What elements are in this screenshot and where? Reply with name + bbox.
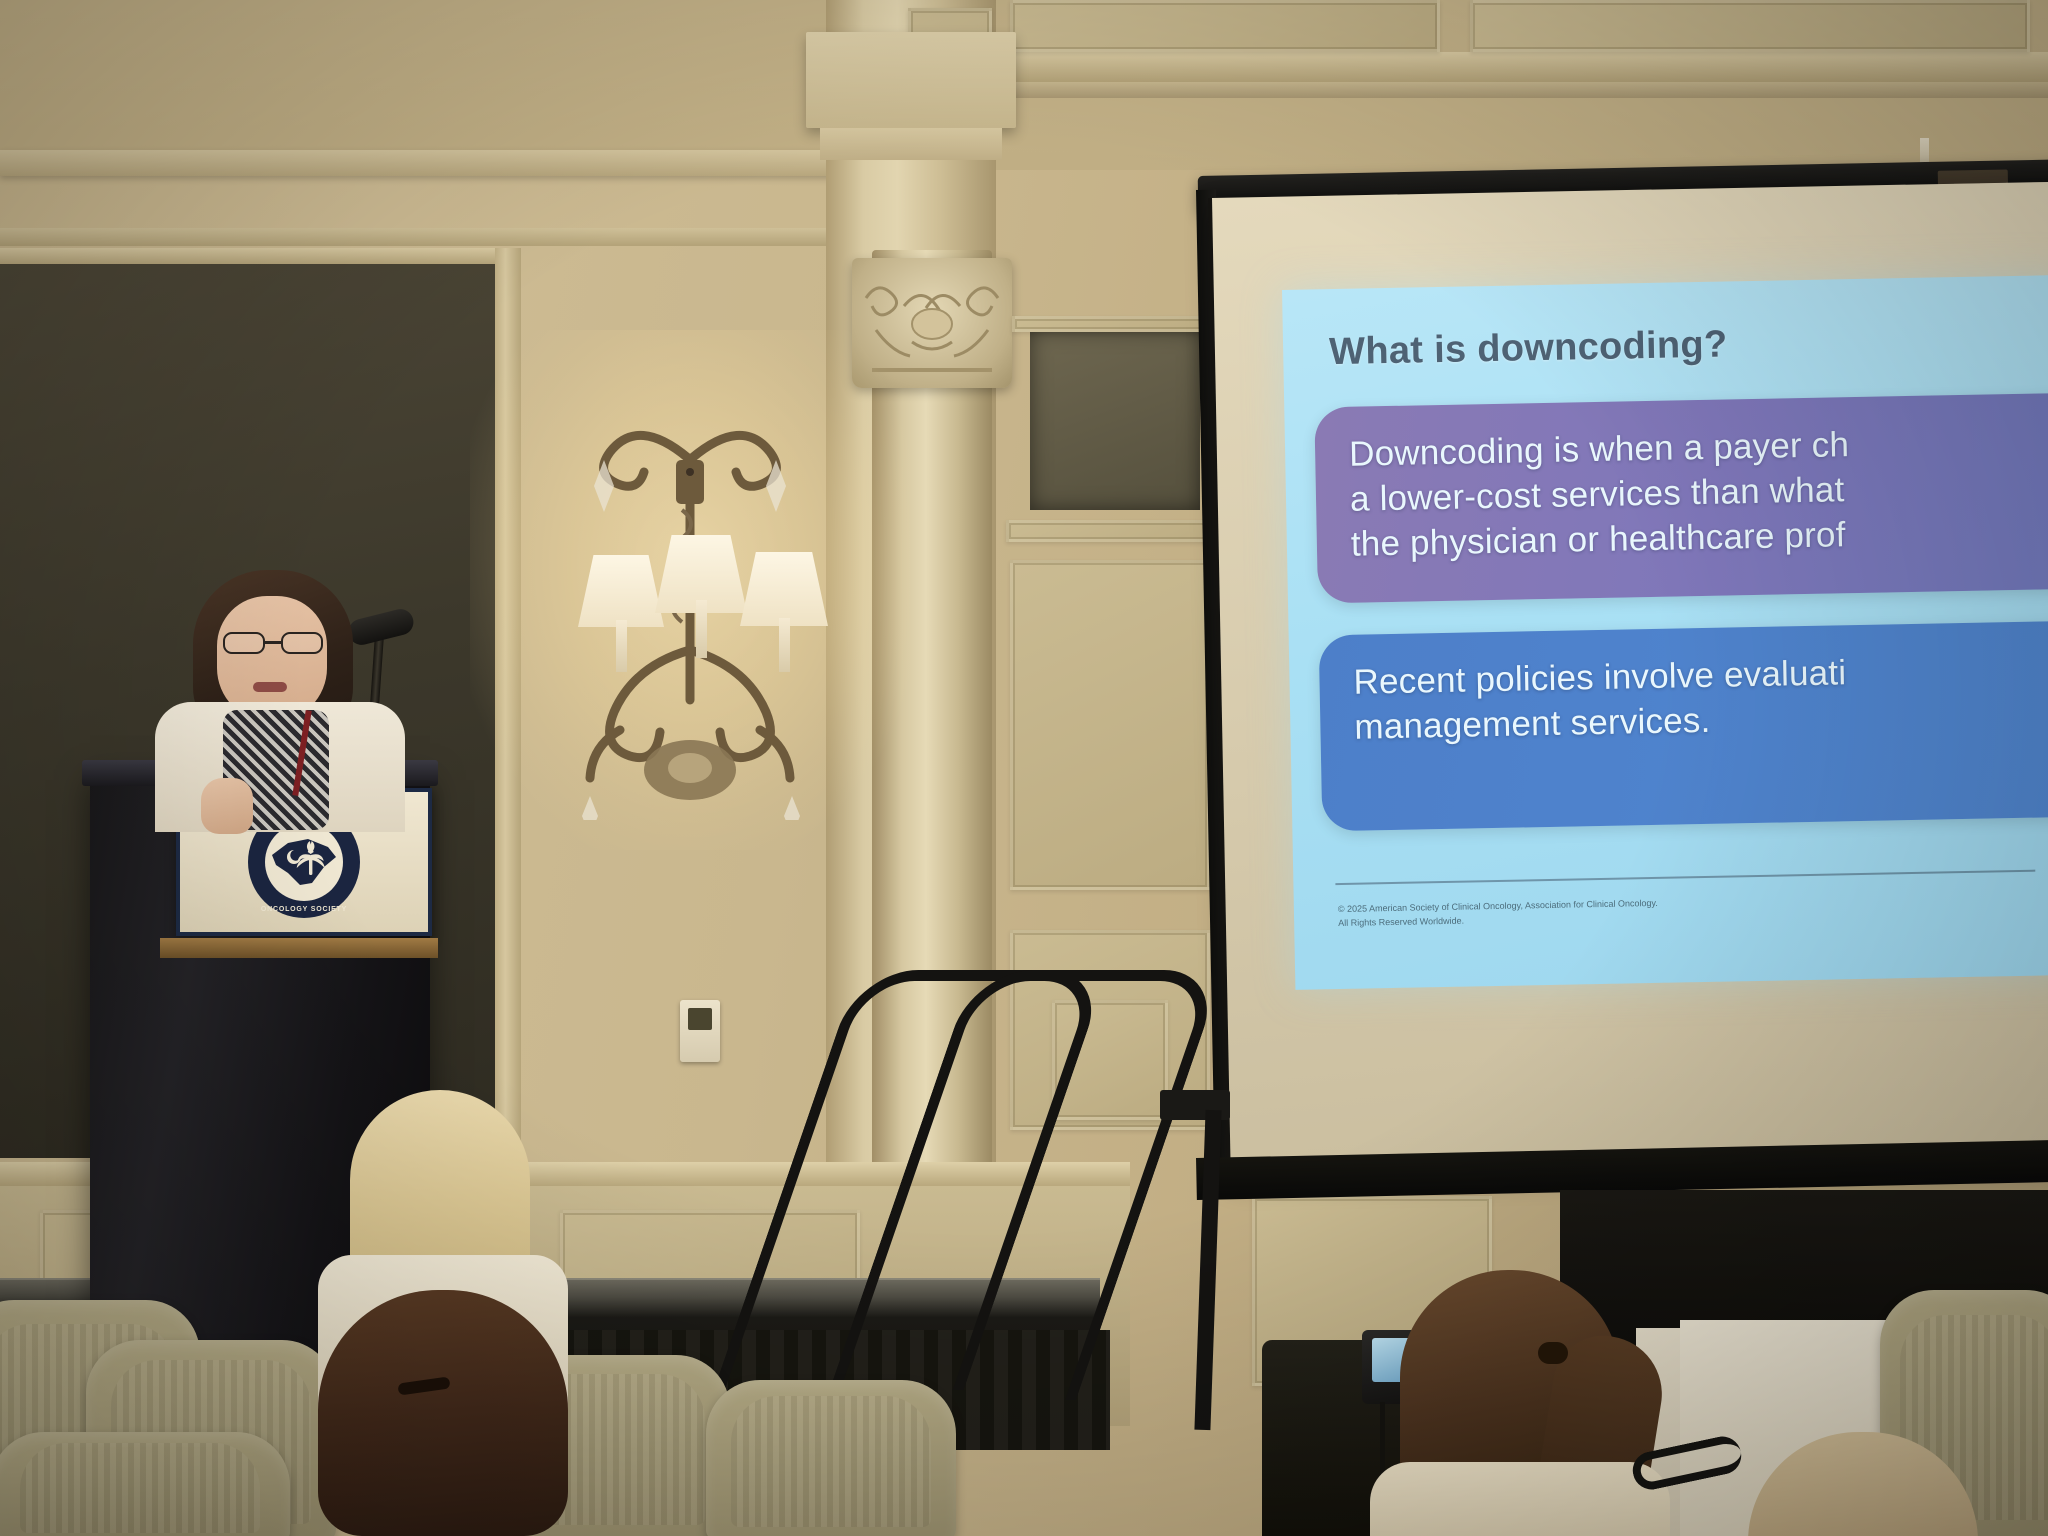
audience-chair — [706, 1380, 956, 1536]
hair-tie-icon — [1538, 1342, 1568, 1364]
speaker-mouth — [253, 682, 287, 692]
audience-chair — [0, 1432, 290, 1536]
audience-member-brunette-hair — [318, 1290, 568, 1536]
corinthian-capital-icon — [852, 258, 1012, 388]
pilaster-cornice-lower — [820, 128, 1002, 160]
pilaster-cornice — [806, 32, 1016, 128]
slide-callout-purple: Downcoding is when a payer ch a lower-co… — [1314, 390, 2048, 603]
right-cornice — [996, 52, 2048, 82]
upper-wall-moulding — [0, 150, 870, 176]
speaker-hand — [201, 778, 253, 834]
slide-copyright: © 2025 American Society of Clinical Onco… — [1338, 897, 1658, 930]
wall-panel-right-a — [1010, 560, 1210, 890]
logo-text-bottom: ONCOLOGY SOCIETY — [248, 906, 360, 913]
panel-head-trim — [1012, 316, 1218, 332]
thermostat-icon[interactable] — [680, 1000, 720, 1062]
palmetto-crescent-icon — [268, 833, 340, 891]
dark-recess-panel — [1030, 330, 1200, 510]
podium-wood-ledge — [160, 938, 438, 958]
logo-state-field — [265, 823, 343, 901]
sconce-candle-center — [696, 600, 707, 658]
wall-panel-upper-right — [1470, 0, 2030, 52]
sconce-candle-right — [779, 618, 790, 672]
audience-member-ponytail-body — [1370, 1462, 1670, 1536]
wall-panel-upper-left — [1010, 0, 1440, 52]
speaker-presenter — [145, 570, 425, 820]
projected-slide: What is downcoding? Downcoding is when a… — [1282, 275, 2048, 990]
doorway-frame — [495, 248, 521, 1163]
wall-moulding-band — [0, 228, 870, 246]
presentation-photo-scene: What is downcoding? Downcoding is when a… — [0, 0, 2048, 1536]
right-cornice-lower — [996, 82, 2048, 98]
eyeglasses-icon — [221, 632, 325, 654]
doorway-header — [0, 248, 520, 264]
sconce-candle-left — [616, 620, 627, 672]
slide-title: What is downcoding? — [1329, 323, 1728, 374]
panel-sill-trim — [1006, 520, 1218, 542]
slide-divider — [1335, 870, 2035, 885]
slide-callout-blue: Recent policies involve evaluati managem… — [1319, 618, 2048, 831]
